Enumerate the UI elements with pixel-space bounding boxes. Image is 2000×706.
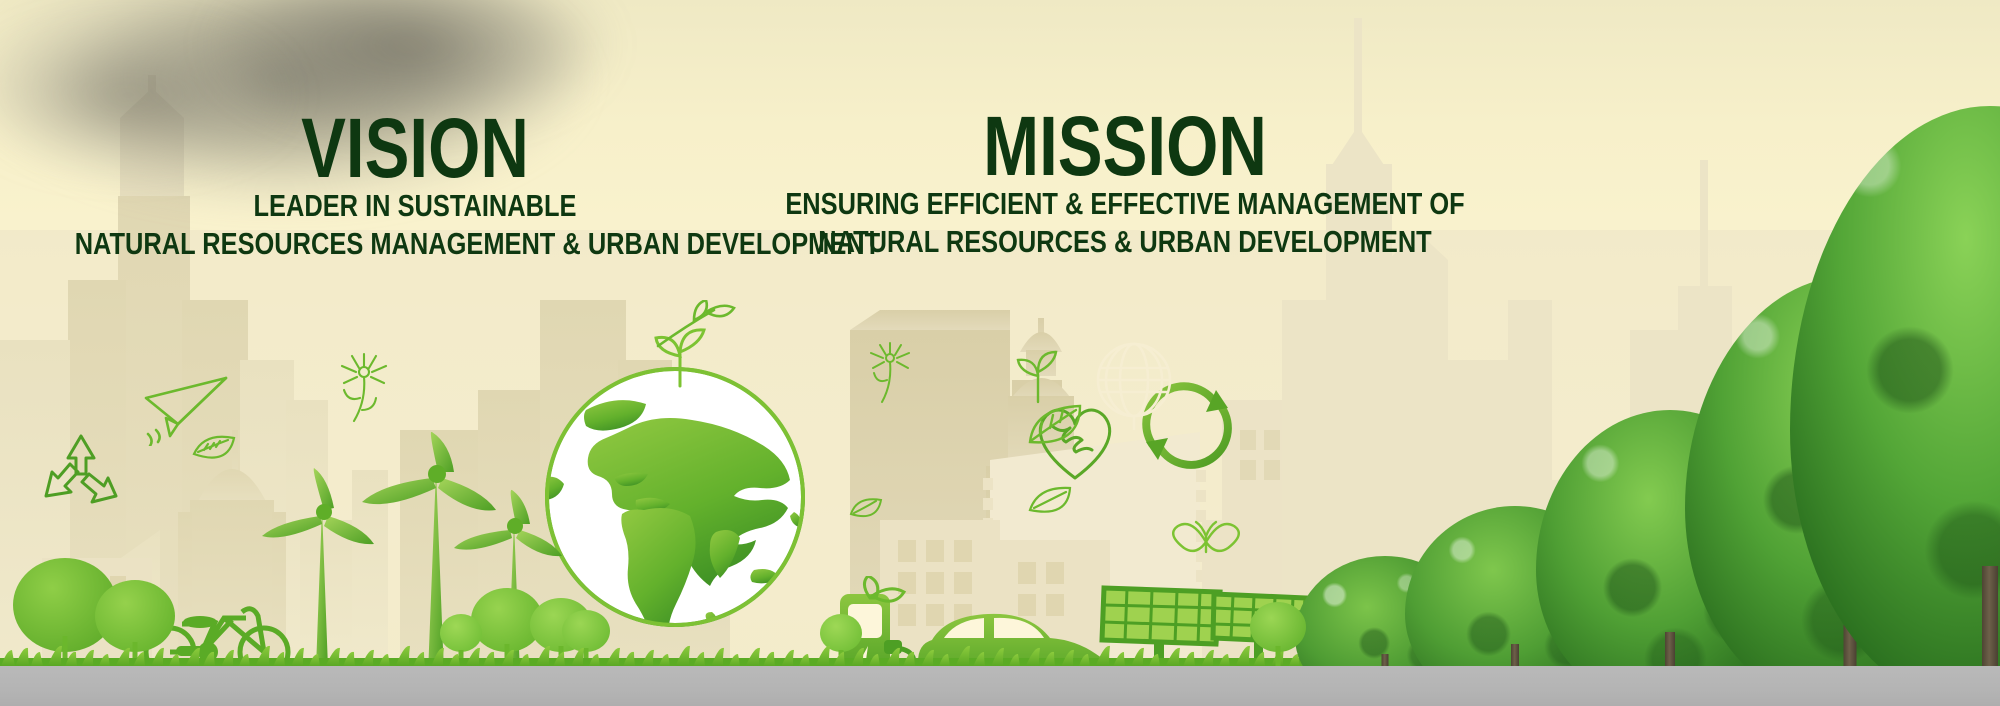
grass-strip [0, 636, 1345, 670]
mission-heading: MISSION [793, 108, 1457, 185]
vision-heading: VISION [83, 110, 747, 187]
leaf-icon [1022, 478, 1080, 524]
sprout-icon [654, 300, 740, 354]
leaf-icon [188, 428, 246, 468]
tree-icon [438, 610, 484, 666]
dandelion-icon [862, 340, 922, 412]
dandelion-icon [330, 350, 402, 432]
tree-icon [1248, 596, 1308, 666]
mission-subtitle-line2: NATURAL RESOURCES & URBAN DEVELOPMENT [785, 223, 1466, 261]
vision-subtitle-line1: LEADER IN SUSTAINABLE [75, 187, 756, 225]
butterfly-icon [1170, 508, 1242, 566]
paper-plane-icon [140, 368, 240, 446]
leaf-icon [846, 490, 888, 524]
tree-crown [1790, 106, 2000, 706]
leaf-icon [1020, 398, 1090, 454]
tree-icon [92, 570, 178, 666]
leaf-icon [850, 490, 890, 522]
vision-subtitle-line2: NATURAL RESOURCES MANAGEMENT & URBAN DEV… [75, 225, 756, 263]
tree-icon [560, 604, 612, 666]
mission-text-block: MISSION ENSURING EFFICIENT & EFFECTIVE M… [710, 108, 1540, 261]
recycle-triangle-icon [38, 430, 124, 514]
sprout-icon [1006, 348, 1070, 406]
sprout-icon [638, 326, 722, 388]
recycle-circle-icon [1128, 368, 1246, 480]
heart-icon [1030, 400, 1120, 486]
mission-subtitle-line1: ENSURING EFFICIENT & EFFECTIVE MANAGEMEN… [785, 185, 1466, 223]
tree-icon [818, 610, 864, 666]
vision-text-block: VISION LEADER IN SUSTAINABLE NATURAL RES… [0, 110, 830, 263]
road-strip [0, 666, 2000, 706]
wind-turbine-icon [258, 468, 418, 674]
wireframe-globe-icon [1092, 338, 1176, 430]
eco-vision-mission-banner: VISION LEADER IN SUSTAINABLE NATURAL RES… [0, 0, 2000, 706]
photo-tree [1780, 16, 2000, 706]
